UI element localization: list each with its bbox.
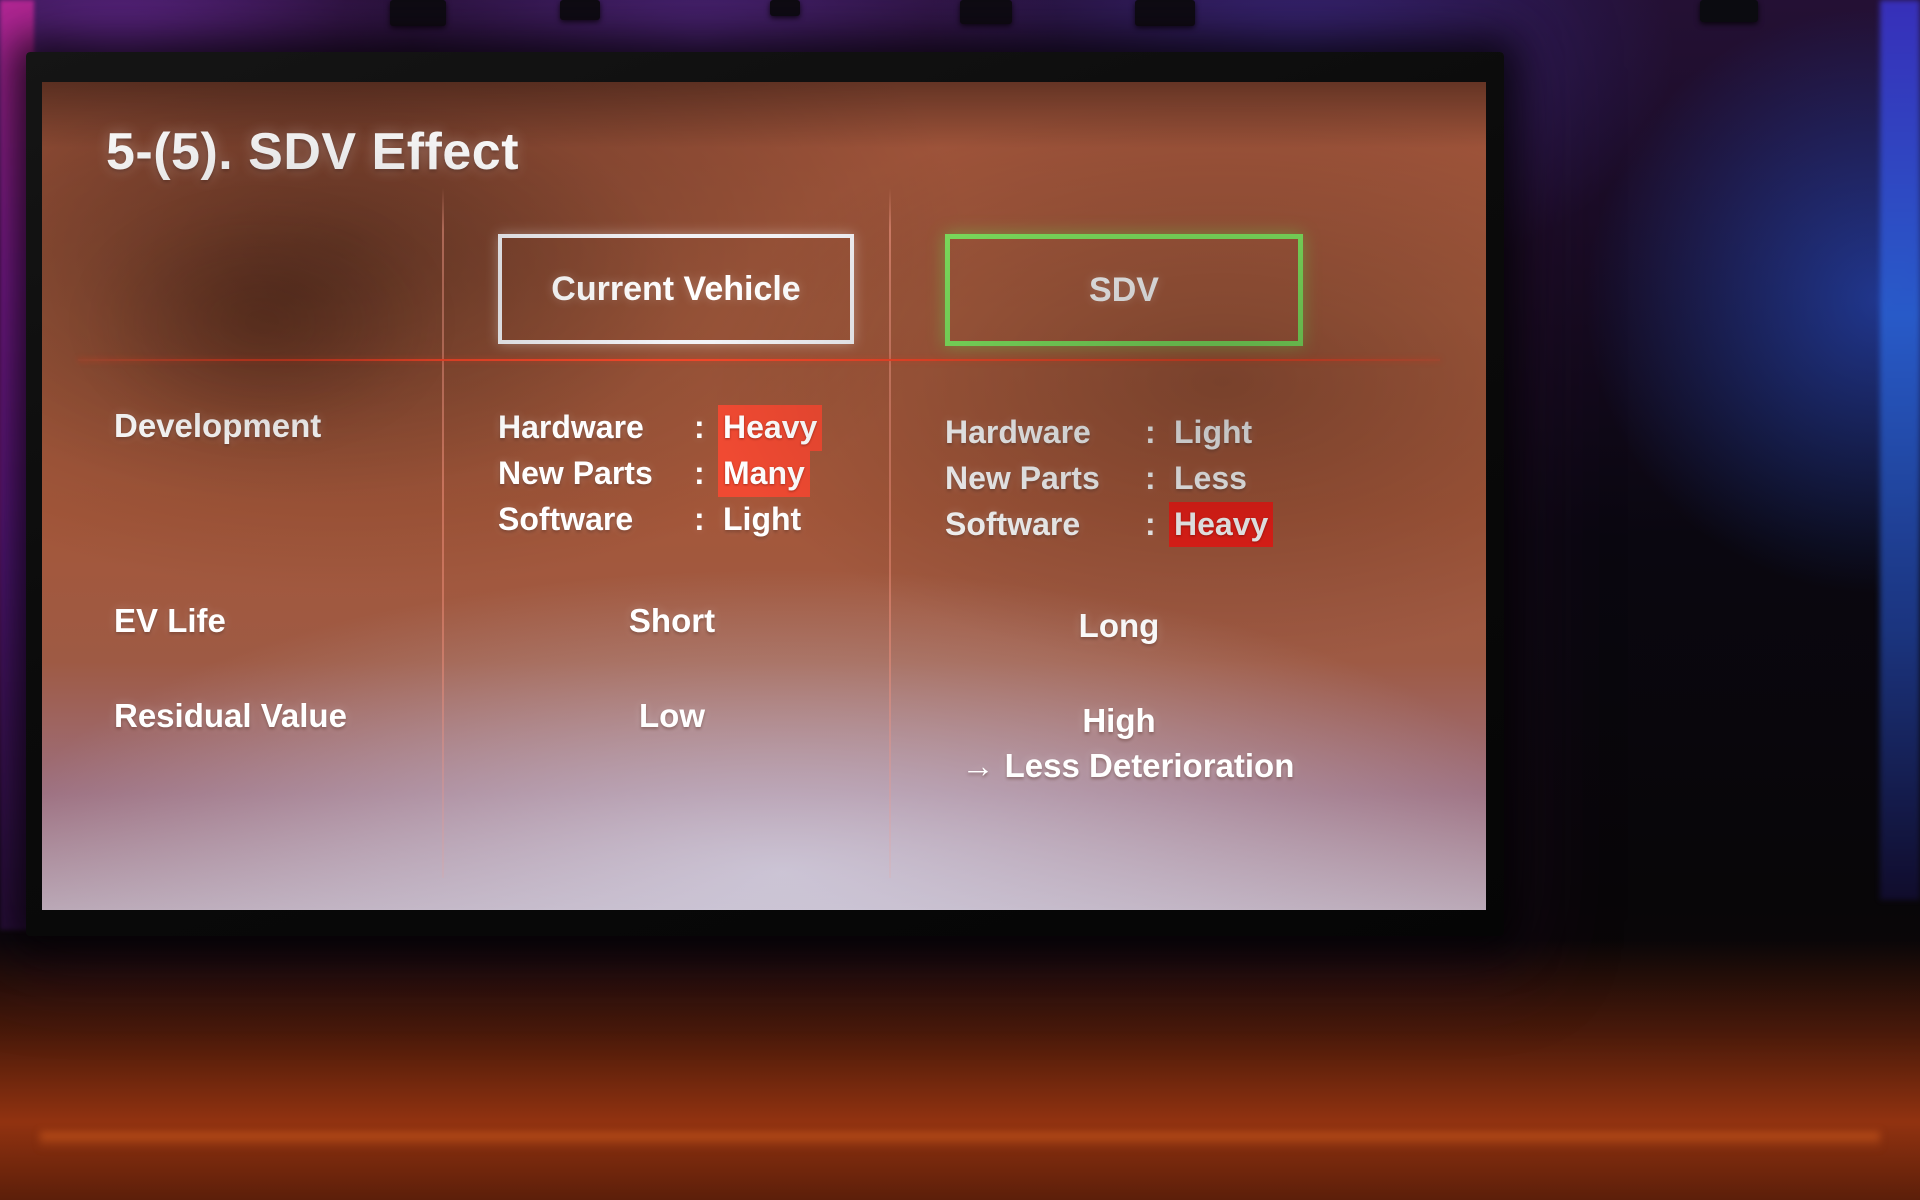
column-header-sdv-label: SDV — [1089, 271, 1159, 310]
column-divider-left — [442, 188, 444, 878]
spec-row: New Parts : Less — [945, 456, 1273, 502]
row-label-residual-value: Residual Value — [114, 697, 347, 735]
spec-value-highlighted: Many — [718, 451, 810, 497]
right-arrow-icon: → — [962, 747, 995, 785]
monitor-screen: 5-(5). SDV Effect Current Vehicle SDV De… — [42, 82, 1486, 910]
column-header-current-vehicle: Current Vehicle — [498, 234, 854, 344]
ceiling-lamp-4 — [1135, 0, 1195, 26]
spec-value: Less — [1169, 456, 1252, 502]
development-specs-sdv: Hardware : Light New Parts : Less Softwa… — [945, 410, 1273, 547]
spec-value: Light — [718, 497, 806, 543]
residual-value-sdv-note: →Less Deterioration — [878, 747, 1378, 785]
cell-ev-life-sdv: Long — [945, 607, 1293, 645]
spec-row: Software : Heavy — [945, 502, 1273, 548]
slide-title: 5-(5). SDV Effect — [106, 122, 519, 182]
spec-key: New Parts — [498, 452, 694, 496]
screen-shadow-artifact — [82, 202, 442, 442]
cell-ev-life-current-vehicle: Short — [498, 602, 846, 640]
spec-colon: : — [694, 498, 718, 542]
ceiling-lamp-1 — [390, 0, 446, 26]
ceiling-lamp-3 — [960, 0, 1012, 24]
spec-colon: : — [1145, 457, 1169, 501]
spec-key: Software — [945, 503, 1145, 547]
spec-key: Hardware — [945, 411, 1145, 455]
ceiling-lamp-6 — [770, 0, 800, 16]
spec-colon: : — [694, 452, 718, 496]
cell-residual-value-sdv: High — [945, 702, 1293, 740]
column-header-current-vehicle-label: Current Vehicle — [551, 270, 800, 309]
residual-value-sdv-note-text: Less Deterioration — [1005, 747, 1295, 784]
spec-colon: : — [694, 406, 718, 450]
cell-residual-value-current-vehicle: Low — [498, 697, 846, 735]
row-label-ev-life: EV Life — [114, 602, 226, 640]
spec-row: New Parts : Many — [498, 451, 822, 497]
spec-value-highlighted: Heavy — [1169, 502, 1273, 548]
spec-value-highlighted: Heavy — [718, 405, 822, 451]
spec-colon: : — [1145, 503, 1169, 547]
ceiling-lamp-2 — [560, 0, 600, 20]
development-specs-current-vehicle: Hardware : Heavy New Parts : Many Softwa… — [498, 405, 822, 542]
spec-row: Hardware : Heavy — [498, 405, 822, 451]
presentation-monitor: 5-(5). SDV Effect Current Vehicle SDV De… — [26, 52, 1504, 936]
spec-colon: : — [1145, 411, 1169, 455]
stage-backdrop: 5-(5). SDV Effect Current Vehicle SDV De… — [0, 0, 1920, 1200]
spec-key: Software — [498, 498, 694, 542]
spec-value: Light — [1169, 410, 1257, 456]
spec-row: Software : Light — [498, 497, 822, 543]
spec-key: New Parts — [945, 457, 1145, 501]
stage-floor-glow — [0, 940, 1920, 1200]
stage-light-pillar-right — [1880, 0, 1920, 900]
spec-key: Hardware — [498, 406, 694, 450]
ceiling-lamp-5 — [1700, 0, 1758, 22]
column-header-sdv: SDV — [945, 234, 1303, 346]
stage-floor-edge — [40, 1132, 1880, 1148]
spec-row: Hardware : Light — [945, 410, 1273, 456]
